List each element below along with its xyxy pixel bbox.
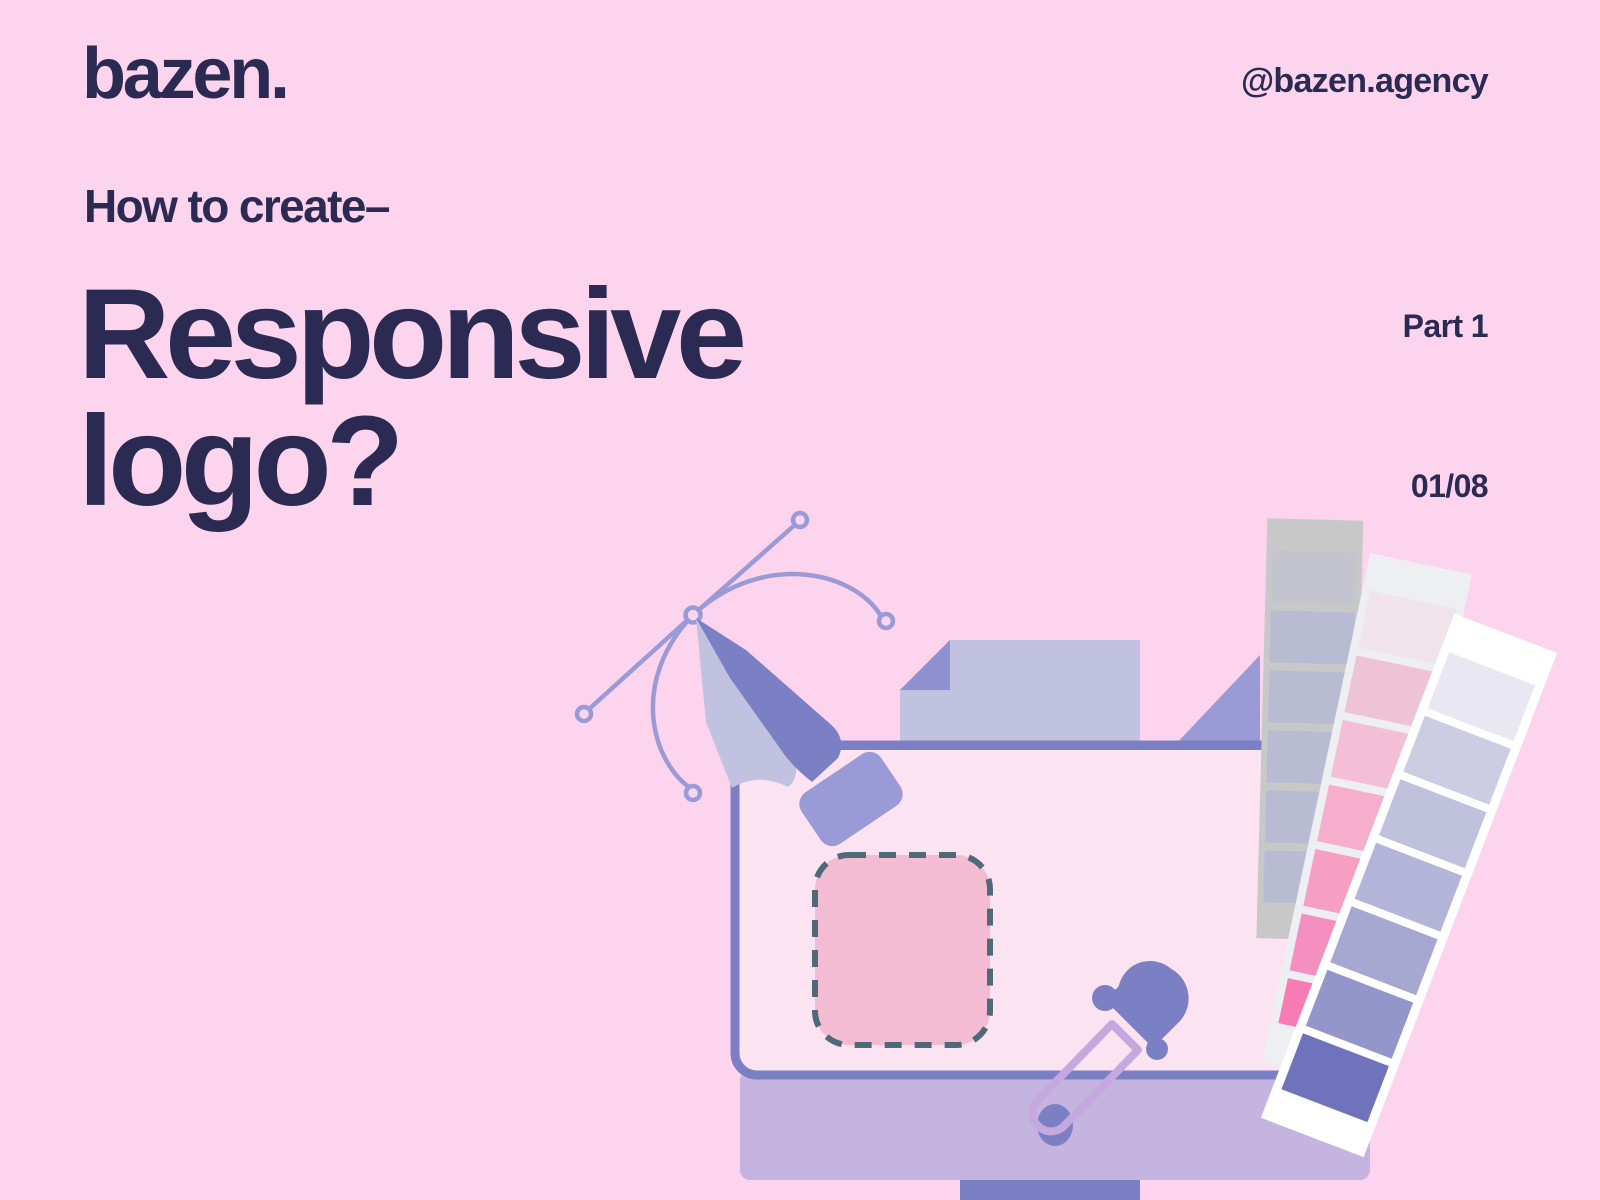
design-workspace-illustration bbox=[560, 500, 1600, 1200]
selection-rectangle-icon[interactable] bbox=[815, 855, 990, 1045]
page-counter: 01/08 bbox=[1411, 470, 1488, 502]
eyebrow-text: How to create– bbox=[84, 183, 389, 229]
page-title: Responsive logo? bbox=[78, 272, 742, 525]
brand-logo: bazen. bbox=[82, 38, 287, 110]
social-handle: @bazen.agency bbox=[1241, 64, 1488, 98]
slide-canvas: bazen. @bazen.agency How to create– Resp… bbox=[0, 0, 1600, 1200]
part-label: Part 1 bbox=[1403, 310, 1488, 342]
